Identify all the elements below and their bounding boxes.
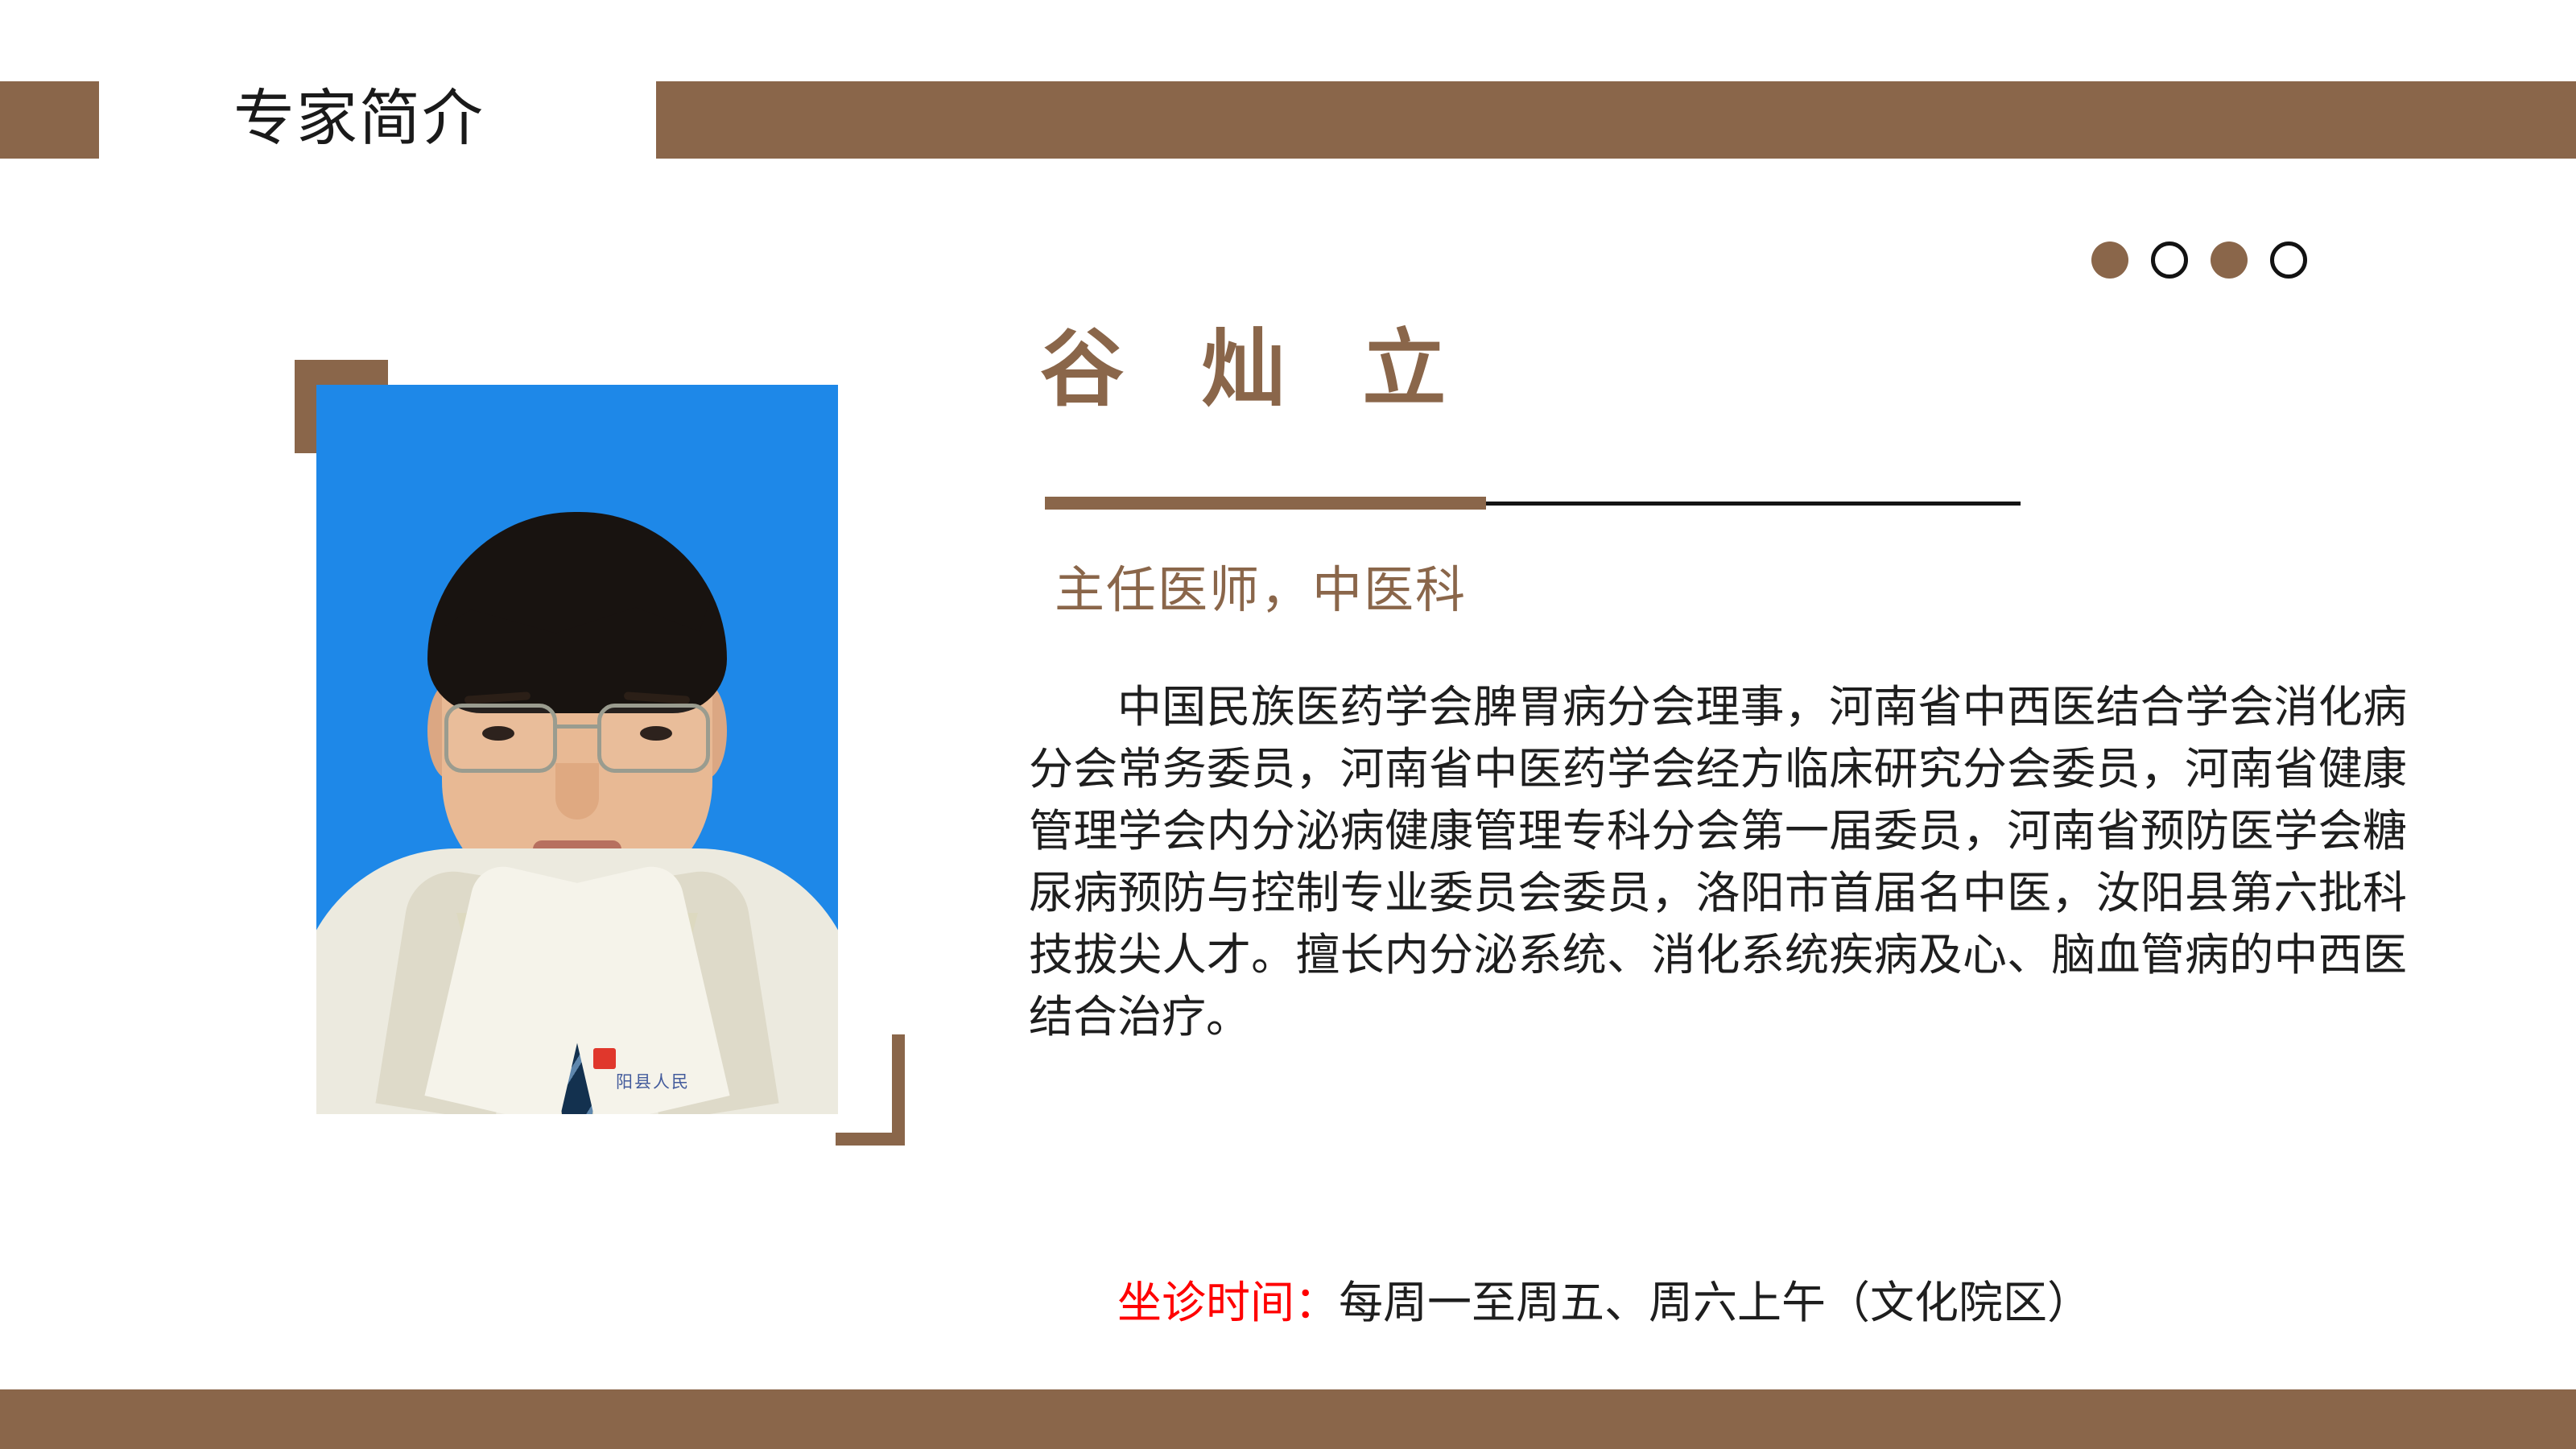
page-title: 专家简介 bbox=[233, 74, 612, 163]
pager-dot-3[interactable] bbox=[2211, 242, 2248, 279]
photo-corner-bracket-decoration bbox=[836, 1034, 905, 1146]
doctor-photo: 阳县人民 bbox=[316, 385, 838, 1114]
doctor-title: 主任医师，中医科 bbox=[1055, 549, 1467, 621]
pager-dot-4[interactable] bbox=[2270, 242, 2307, 279]
schedule-line: 坐诊时间：每周一至周五、周六上午（文化院区） bbox=[1029, 1272, 2429, 1334]
lens-left bbox=[444, 704, 557, 773]
coat-badge-text: 阳县人民 bbox=[616, 1069, 690, 1093]
schedule-label: 坐诊时间： bbox=[1117, 1277, 1339, 1328]
portrait-illustration: 阳县人民 bbox=[316, 385, 838, 1114]
doctor-name: 谷 灿 立 bbox=[1040, 327, 1470, 411]
header-accent-bar-right bbox=[656, 81, 2576, 159]
coat-badge-emblem bbox=[593, 1048, 616, 1069]
footer-accent-bar bbox=[0, 1389, 2576, 1449]
nose bbox=[555, 763, 599, 819]
divider-thin-segment bbox=[1486, 502, 2021, 506]
divider-thick-segment bbox=[1045, 497, 1486, 510]
pager-dots[interactable] bbox=[2091, 242, 2307, 279]
title-divider bbox=[1045, 497, 2021, 510]
pager-dot-2[interactable] bbox=[2151, 242, 2188, 279]
glasses-bridge bbox=[557, 724, 597, 729]
doctor-bio: 中国民族医药学会脾胃病分会理事，河南省中西医结合学会消化病分会常务委员，河南省中… bbox=[1029, 676, 2407, 1048]
pager-dot-1[interactable] bbox=[2091, 242, 2128, 279]
lens-right bbox=[597, 704, 710, 773]
schedule-value: 每周一至周五、周六上午（文化院区） bbox=[1339, 1277, 2091, 1328]
header-accent-bar-left bbox=[0, 81, 99, 159]
